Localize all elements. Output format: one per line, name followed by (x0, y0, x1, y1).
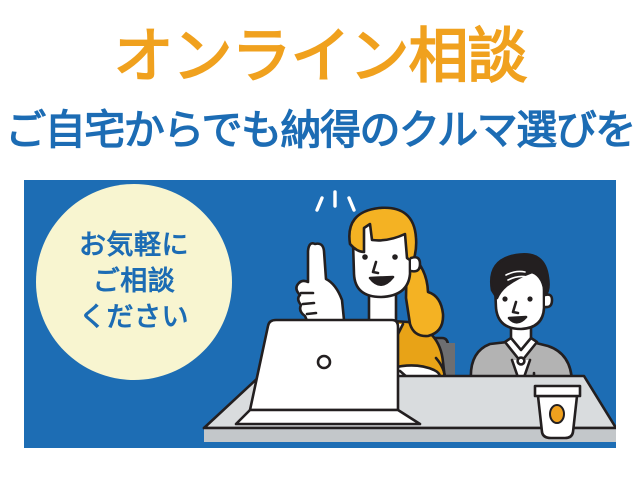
woman-eye-right (392, 254, 398, 260)
callout-text: お気軽に ご相談 ください (36, 184, 232, 380)
callout-line-1: お気軽に (79, 228, 189, 264)
woman-finger-crease-2 (303, 303, 314, 304)
woman-finger-crease-3 (307, 313, 316, 314)
woman-eye-left (362, 254, 368, 260)
callout-line-2: ご相談 (93, 264, 176, 300)
headline-block: オンライン相談 ご自宅からでも納得のクルマ選びを (0, 0, 640, 175)
online-consultation-banner: オンライン相談 ご自宅からでも納得のクルマ選びを (0, 0, 640, 480)
man-ear (545, 295, 552, 308)
man-eye-right (527, 296, 532, 301)
illustration-panel: お気軽に ご相談 ください (24, 180, 616, 448)
man-shirt-button (518, 358, 525, 365)
coffee-cup-lid (535, 386, 580, 396)
page-title: オンライン相談 (0, 26, 640, 88)
laptop-base (236, 410, 420, 424)
callout-circle: お気軽に ご相談 ください (36, 184, 232, 380)
callout-line-3: ください (79, 300, 189, 336)
woman-ear (411, 257, 420, 271)
laptop-logo-icon (318, 356, 330, 368)
coffee-cup-logo-icon (550, 405, 564, 423)
man-eye-left (502, 296, 507, 301)
page-subtitle: ご自宅からでも納得のクルマ選びを (0, 106, 640, 154)
